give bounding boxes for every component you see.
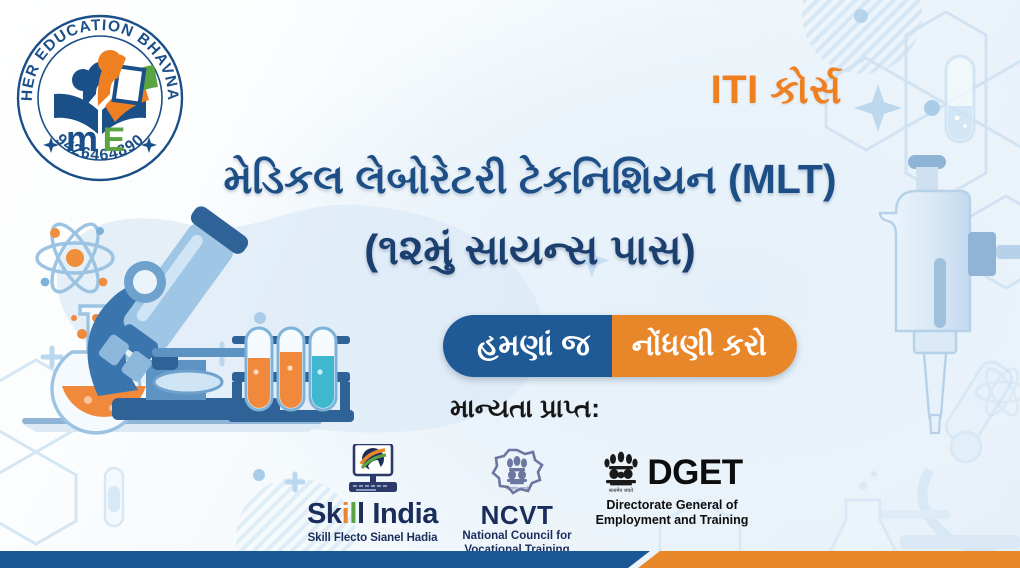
svg-text:E: E [103, 121, 126, 159]
ashoka-emblem-icon: सत्यमेव जयते [601, 448, 641, 496]
page-subtitle: (૧૨મું સાયન્સ પાસ) [0, 226, 1020, 275]
bottom-accent-bar [0, 551, 1020, 568]
test-tube-icon [105, 468, 123, 526]
monitor-icon [341, 444, 405, 496]
svg-text:सत्यमेव जयते: सत्यमेव जयते [609, 487, 633, 494]
bar-blue-segment [0, 551, 650, 568]
skill-india-wordmark: Skill India [285, 500, 460, 529]
dget-tagline-line1: Directorate General of [577, 498, 767, 513]
hexagon-molecule-pattern [0, 360, 76, 568]
cta-right-label: નોંધણી કરો [612, 315, 797, 377]
flask-icon [828, 471, 898, 556]
ncvt-tagline-line1: National Council for [453, 530, 581, 544]
svg-text:m: m [66, 118, 98, 159]
dget-wordmark: DGET [647, 455, 742, 490]
skill-india-tagline: Skill Flecto Sianel Hadia [285, 532, 460, 544]
logo-skill-india: Skill India Skill Flecto Sianel Hadia [285, 444, 460, 544]
si-part-3: l [349, 498, 357, 530]
si-part-1: Sk [307, 498, 342, 530]
logo-ncvt: सत्यमेव जयते NCVT National Council for V… [453, 448, 581, 557]
bench-shadow [22, 424, 322, 432]
si-part-4: l India [357, 498, 438, 530]
ashoka-emblem-icon [507, 456, 527, 484]
eyebrow-heading: ITI કોર્સ [0, 68, 1020, 113]
logo-monogram: m E [66, 118, 125, 159]
microscope-icon [880, 358, 1020, 549]
accreditation-logos: Skill India Skill Flecto Sianel Hadia [285, 442, 765, 552]
dget-tagline-line2: Employment and Training [577, 513, 767, 528]
bar-orange-segment [638, 551, 1020, 568]
svg-text:सत्यमेव जयते: सत्यमेव जयते [506, 485, 529, 491]
ncvt-wordmark: NCVT [453, 502, 581, 528]
cta-left-label: હમણાં જ [443, 315, 612, 377]
logo-dget: सत्यमेव जयते DGET Directorate General of… [577, 448, 767, 528]
accreditation-label: માન્યતા પ્રાપ્ત: [0, 393, 1020, 425]
striped-circle [802, 0, 922, 74]
register-cta-button[interactable]: હમણાં જ નોંધણી કરો [443, 315, 797, 377]
page-title: મેડિકલ લેબોરેટરી ટેકનિશિયન (MLT) [0, 156, 1020, 204]
gear-emblem-icon: सत्यमेव जयते [488, 448, 546, 500]
promo-banner: MOTHER EDUCATION BHAVNAGAR 9426464890 m … [0, 0, 1020, 568]
